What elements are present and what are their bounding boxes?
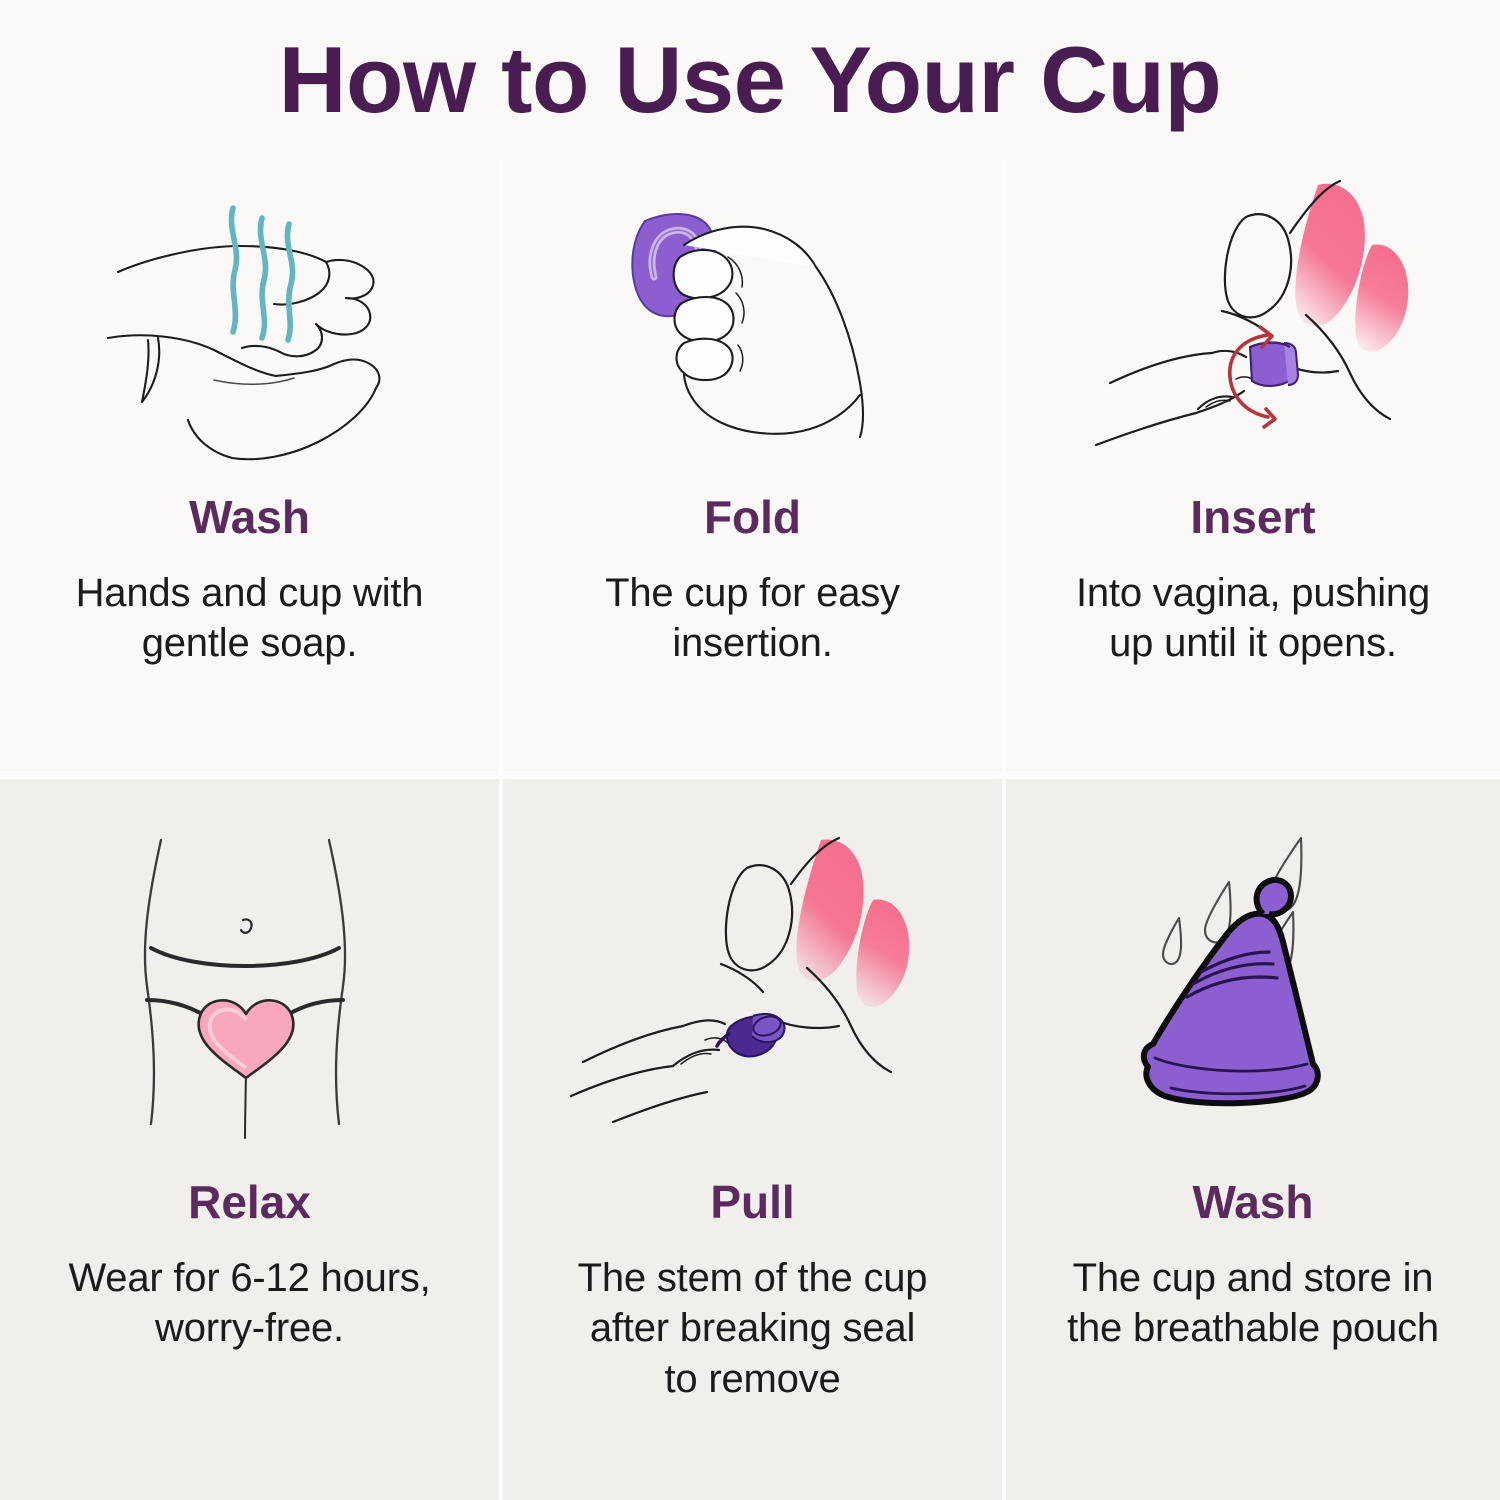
step-panel-wash-hands: Wash Hands and cup with gentle soap. — [0, 160, 499, 775]
relax-illustration — [0, 779, 499, 1179]
step-panel-relax: Relax Wear for 6-12 hours, worry-free. — [0, 779, 499, 1500]
step-panel-insert: Insert Into vagina, pushing up until it … — [1006, 160, 1500, 775]
step-heading: Relax — [188, 1179, 311, 1225]
water-stream-icon — [231, 208, 292, 340]
desc-line: insertion. — [605, 618, 900, 668]
removing-cup-anatomy-icon — [553, 834, 953, 1134]
desc-line: The stem of the cup — [578, 1253, 928, 1303]
step-description: The cup for easy insertion. — [579, 568, 926, 669]
hand-folding-cup-icon — [588, 185, 918, 475]
step-heading: Pull — [710, 1179, 794, 1225]
desc-line: to remove — [578, 1354, 928, 1404]
step-description: The stem of the cup after breaking seal … — [552, 1253, 954, 1404]
desc-line: The cup and store in — [1067, 1253, 1439, 1303]
step-heading: Wash — [1193, 1179, 1314, 1225]
washing-hands-icon — [80, 180, 420, 480]
step-panel-pull: Pull The stem of the cup after breaking … — [503, 779, 1002, 1500]
step-description: The cup and store in the breathable pouc… — [1041, 1253, 1465, 1354]
step-heading: Wash — [189, 494, 310, 540]
folding-cup-illustration — [503, 160, 1002, 490]
heart-icon — [198, 1000, 293, 1078]
anatomy-pink-region — [1295, 184, 1365, 326]
desc-line: Hands and cup with — [76, 568, 424, 618]
step-panel-fold: Fold The cup for easy insertion. — [503, 160, 1002, 775]
cup-removal-icon — [717, 1013, 784, 1056]
washing-hands-illustration — [0, 160, 499, 490]
desc-line: Into vagina, pushing — [1076, 568, 1430, 618]
desc-line: The cup for easy — [605, 568, 900, 618]
desc-line: worry-free. — [68, 1303, 430, 1353]
step-panel-wash-cup: Wash The cup and store in the breathable… — [1006, 779, 1500, 1500]
wash-cup-illustration — [1006, 779, 1500, 1179]
cup-in-place-icon — [1250, 343, 1298, 386]
cup-with-water-drops-icon — [1093, 824, 1413, 1144]
title-banner: How to Use Your Cup — [0, 0, 1500, 160]
desc-line: up until it opens. — [1076, 618, 1430, 668]
desc-line: after breaking seal — [578, 1303, 928, 1353]
step-description: Hands and cup with gentle soap. — [50, 568, 450, 669]
page-title: How to Use Your Cup — [279, 33, 1222, 127]
step-description: Into vagina, pushing up until it opens. — [1050, 568, 1456, 669]
desc-line: the breathable pouch — [1067, 1303, 1439, 1353]
pull-anatomy-illustration — [503, 779, 1002, 1179]
anatomy-pink-region — [1355, 244, 1408, 351]
step-description: Wear for 6-12 hours, worry-free. — [42, 1253, 456, 1354]
desc-line: gentle soap. — [76, 618, 424, 668]
torso-underwear-heart-icon — [85, 824, 415, 1144]
step-heading: Fold — [704, 494, 801, 540]
steps-grid: Wash Hands and cup with gentle soap. — [0, 160, 1500, 1500]
insert-anatomy-illustration — [1006, 160, 1500, 490]
anatomy-pink-region — [796, 839, 863, 981]
anatomy-pink-region — [856, 899, 909, 1006]
inserting-cup-anatomy-icon — [1068, 175, 1438, 485]
step-heading: Insert — [1190, 494, 1315, 540]
desc-line: Wear for 6-12 hours, — [68, 1253, 430, 1303]
infographic-page: How to Use Your Cup — [0, 0, 1500, 1500]
